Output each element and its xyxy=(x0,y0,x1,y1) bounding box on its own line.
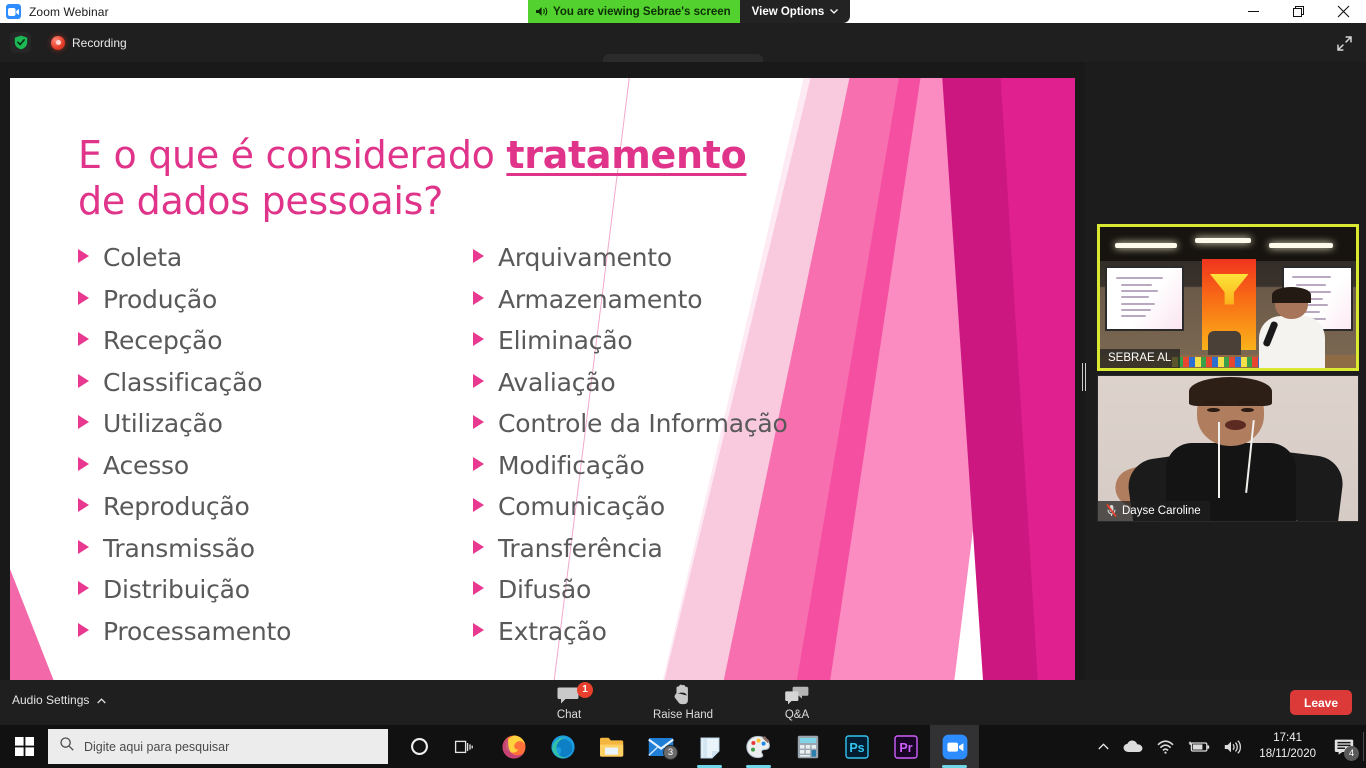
participant-name-badge: SEBRAE AL xyxy=(1100,349,1180,368)
windows-taskbar: Digite aqui para pesquisar 3 xyxy=(0,725,1366,768)
video-thumbnail-sebrae-al[interactable]: SEBRAE AL xyxy=(1097,224,1359,371)
restore-button[interactable] xyxy=(1276,0,1321,23)
triangle-bullet-icon xyxy=(473,623,484,637)
triangle-bullet-icon xyxy=(473,498,484,512)
ceiling-light-3 xyxy=(1269,243,1333,248)
mouth xyxy=(1225,420,1246,430)
viewing-screen-indicator: You are viewing Sebrae's screen xyxy=(528,0,740,23)
zoom-icon[interactable] xyxy=(930,725,979,768)
triangle-bullet-icon xyxy=(78,291,89,305)
svg-text:Pr: Pr xyxy=(899,741,912,755)
slide-bullet-item: Arquivamento xyxy=(473,243,868,285)
slide-bullet-item: Utilização xyxy=(78,409,473,451)
show-desktop-strip[interactable] xyxy=(1363,732,1364,761)
slide-bullet-label: Acesso xyxy=(103,451,189,480)
clock-date: 18/11/2020 xyxy=(1259,747,1316,763)
search-placeholder: Digite aqui para pesquisar xyxy=(84,740,229,754)
bullet-column-left: ColetaProduçãoRecepçãoClassificaçãoUtili… xyxy=(78,243,473,658)
slide-bullet-label: Eliminação xyxy=(498,326,633,355)
triangle-bullet-icon xyxy=(78,374,89,388)
video-thumbnail-dayse-caroline[interactable]: Dayse Caroline xyxy=(1097,375,1359,522)
presentation-slide: E o que é considerado tratamento de dado… xyxy=(10,78,1075,738)
slide-bullet-label: Difusão xyxy=(498,575,591,604)
slide-bullet-label: Modificação xyxy=(498,451,645,480)
slide-bullet-item: Difusão xyxy=(473,575,868,617)
slide-bullet-label: Arquivamento xyxy=(498,243,672,272)
triangle-bullet-icon xyxy=(78,581,89,595)
triangle-bullet-icon xyxy=(473,457,484,471)
slide-bullet-label: Utilização xyxy=(103,409,223,438)
slide-bullet-item: Comunicação xyxy=(473,492,868,534)
slide-bullet-item: Eliminação xyxy=(473,326,868,368)
slide-bullet-label: Extração xyxy=(498,617,607,646)
slide-bullet-label: Processamento xyxy=(103,617,291,646)
triangle-bullet-icon xyxy=(473,249,484,263)
slide-bullet-item: Processamento xyxy=(78,617,473,659)
triangle-bullet-icon xyxy=(473,374,484,388)
triangle-bullet-icon xyxy=(78,249,89,263)
slide-bullet-item: Coleta xyxy=(78,243,473,285)
photoshop-icon[interactable]: Ps xyxy=(832,725,881,768)
task-view-icon[interactable] xyxy=(440,725,489,768)
slide-bullet-label: Armazenamento xyxy=(498,285,702,314)
paint-icon[interactable] xyxy=(734,725,783,768)
recording-indicator[interactable]: Recording xyxy=(44,31,134,54)
chat-button[interactable]: 1 Chat xyxy=(533,685,605,721)
onedrive-cloud-icon[interactable] xyxy=(1116,725,1150,768)
slide-bullet-label: Avaliação xyxy=(498,368,616,397)
slide-bullet-item: Controle da Informação xyxy=(473,409,868,451)
ceiling-light-1 xyxy=(1115,243,1176,248)
file-explorer-icon[interactable] xyxy=(587,725,636,768)
slide-bullet-item: Produção xyxy=(78,285,473,327)
meeting-top-toolbar: Recording SEBRAE AL is talking... xyxy=(0,23,1366,62)
slide-bullet-item: Recepção xyxy=(78,326,473,368)
hair xyxy=(1189,377,1272,406)
view-options-label: View Options xyxy=(752,6,825,18)
view-options-button[interactable]: View Options xyxy=(740,0,851,23)
slide-bullet-item: Distribuição xyxy=(78,575,473,617)
app-title: Zoom Webinar xyxy=(29,5,109,19)
slide-title-part1: E o que é considerado xyxy=(78,133,506,177)
sticky-notes-icon[interactable] xyxy=(685,725,734,768)
room-scene xyxy=(1100,227,1356,368)
video-feed-sebrae-al xyxy=(1100,227,1356,368)
search-input[interactable]: Digite aqui para pesquisar xyxy=(48,729,388,764)
calculator-icon[interactable] xyxy=(783,725,832,768)
shield-check-icon[interactable] xyxy=(10,32,31,53)
triangle-bullet-icon xyxy=(473,540,484,554)
eyebrow-left xyxy=(1205,401,1223,405)
meeting-bottom-toolbar: Audio Settings 1 Chat Raise Hand xyxy=(0,680,1366,725)
slide-bullet-label: Recepção xyxy=(103,326,222,355)
slide-bullet-item: Armazenamento xyxy=(473,285,868,327)
projection-screen-left xyxy=(1105,266,1184,331)
shared-screen-stage: E o que é considerado tratamento de dado… xyxy=(0,62,1085,680)
webcam-scene xyxy=(1098,376,1358,521)
mail-badge: 3 xyxy=(663,745,678,760)
slide-bullet-label: Comunicação xyxy=(498,492,665,521)
clock-time: 17:41 xyxy=(1273,731,1302,747)
slide-bullet-label: Distribuição xyxy=(103,575,250,604)
event-logo xyxy=(1210,274,1249,305)
qa-button[interactable]: Q&A xyxy=(761,685,833,721)
zoom-video-icon xyxy=(6,4,21,19)
slide-bullet-label: Controle da Informação xyxy=(498,409,788,438)
slide-bullet-label: Coleta xyxy=(103,243,182,272)
microsoft-edge-icon[interactable] xyxy=(538,725,587,768)
slide-bullet-label: Classificação xyxy=(103,368,262,397)
chat-unread-badge: 1 xyxy=(577,682,593,698)
participants-video-panel: SEBRAE AL xyxy=(1085,62,1366,680)
triangle-bullet-icon xyxy=(78,415,89,429)
toolbar-center-buttons: 1 Chat Raise Hand Q&A xyxy=(0,680,1366,725)
raise-hand-label: Raise Hand xyxy=(653,709,713,721)
recording-dot-icon xyxy=(51,36,65,50)
zoom-webinar-window: Zoom Webinar You are viewing Sebrae's sc… xyxy=(0,0,1366,768)
triangle-bullet-icon xyxy=(78,332,89,346)
taskbar-app-icons: 3 Ps Pr xyxy=(440,725,979,768)
speaker-icon xyxy=(536,6,548,17)
slide-bullet-item: Avaliação xyxy=(473,368,868,410)
recording-label: Recording xyxy=(72,36,127,50)
windows-logo-icon[interactable] xyxy=(0,725,48,768)
chat-label: Chat xyxy=(557,709,581,721)
triangle-bullet-icon xyxy=(473,332,484,346)
tray-overflow-button[interactable] xyxy=(1091,725,1116,768)
presenter-hair xyxy=(1272,287,1311,303)
triangle-bullet-icon xyxy=(78,623,89,637)
participant-name: Dayse Caroline xyxy=(1122,505,1201,517)
chevron-down-icon xyxy=(830,7,838,16)
slide-title-emphasis: tratamento xyxy=(506,133,746,177)
raise-hand-icon xyxy=(673,685,693,705)
close-button[interactable] xyxy=(1321,0,1366,23)
participant-name-badge: Dayse Caroline xyxy=(1098,501,1210,521)
notification-badge: 4 xyxy=(1344,746,1359,761)
participant-name: SEBRAE AL xyxy=(1108,352,1171,364)
triangle-bullet-icon xyxy=(78,457,89,471)
action-center-icon[interactable]: 4 xyxy=(1326,725,1366,768)
premiere-pro-icon[interactable]: Pr xyxy=(881,725,930,768)
system-tray: 17:41 18/11/2020 4 xyxy=(1091,725,1366,768)
triangle-bullet-icon xyxy=(78,540,89,554)
slide-bullet-item: Extração xyxy=(473,617,868,659)
window-controls xyxy=(1231,0,1366,23)
battery-charging-icon[interactable] xyxy=(1181,725,1217,768)
eyebrow-right xyxy=(1238,401,1256,405)
qa-bubbles-icon xyxy=(785,685,809,705)
slide-bullet-item: Reprodução xyxy=(78,492,473,534)
leave-button[interactable]: Leave xyxy=(1290,690,1352,715)
presenter-figure xyxy=(1259,289,1326,368)
triangle-bullet-icon xyxy=(473,415,484,429)
slide-bullet-item: Classificação xyxy=(78,368,473,410)
wifi-icon[interactable] xyxy=(1150,725,1181,768)
triangle-bullet-icon xyxy=(473,581,484,595)
bullet-column-right: ArquivamentoArmazenamentoEliminaçãoAvali… xyxy=(473,243,868,658)
video-feed-dayse-caroline xyxy=(1098,376,1358,521)
fullscreen-expand-icon[interactable] xyxy=(1330,31,1358,55)
qa-label: Q&A xyxy=(785,709,809,721)
search-icon xyxy=(60,737,74,756)
mail-icon[interactable]: 3 xyxy=(636,725,685,768)
slide-bullet-label: Produção xyxy=(103,285,217,314)
slide-bullet-item: Transferência xyxy=(473,534,868,576)
triangle-bullet-icon xyxy=(78,498,89,512)
slide-bullet-columns: ColetaProduçãoRecepçãoClassificaçãoUtili… xyxy=(78,243,868,658)
slide-bullet-item: Acesso xyxy=(78,451,473,493)
viewing-screen-text: You are viewing Sebrae's screen xyxy=(553,6,731,18)
cortana-circle-icon[interactable] xyxy=(398,725,440,768)
taskbar-clock[interactable]: 17:41 18/11/2020 xyxy=(1249,725,1326,768)
slide-content: E o que é considerado tratamento de dado… xyxy=(10,78,1075,738)
slide-title-part2: de dados pessoais? xyxy=(78,179,443,223)
screen-share-banner: You are viewing Sebrae's screen View Opt… xyxy=(528,0,850,23)
slide-bullet-item: Modificação xyxy=(473,451,868,493)
slide-bullet-label: Reprodução xyxy=(103,492,250,521)
ceiling-light-2 xyxy=(1195,238,1251,243)
minimize-button[interactable] xyxy=(1231,0,1276,23)
colored-decor xyxy=(1172,357,1259,367)
panel-resize-handle[interactable] xyxy=(1081,362,1087,392)
microphone-muted-icon xyxy=(1106,504,1117,517)
slide-bullet-label: Transferência xyxy=(498,534,663,563)
volume-icon[interactable] xyxy=(1217,725,1249,768)
earphone-cord-left xyxy=(1218,422,1220,497)
svg-text:Ps: Ps xyxy=(849,741,864,755)
triangle-bullet-icon xyxy=(473,291,484,305)
firefox-icon[interactable] xyxy=(489,725,538,768)
slide-title: E o que é considerado tratamento de dado… xyxy=(78,132,778,225)
raise-hand-button[interactable]: Raise Hand xyxy=(647,685,719,721)
slide-bullet-label: Transmissão xyxy=(103,534,255,563)
slide-bullet-item: Transmissão xyxy=(78,534,473,576)
